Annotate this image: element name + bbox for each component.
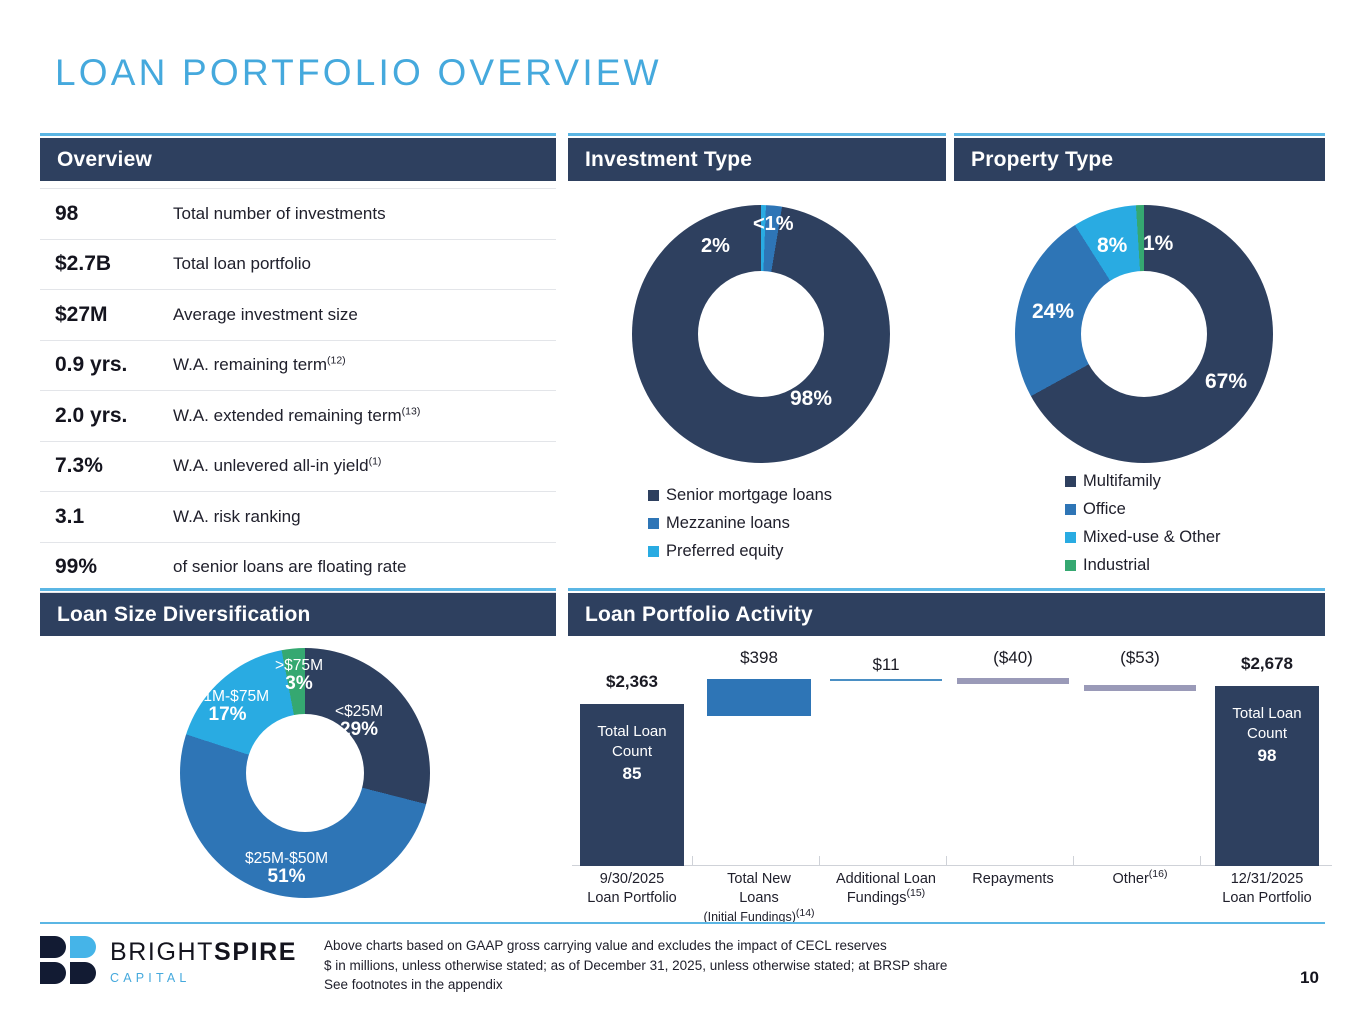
legend-label: Office (1083, 500, 1126, 519)
bar-value-label: ($40) (953, 648, 1073, 668)
overview-label: W.A. risk ranking (173, 507, 301, 527)
table-row: 2.0 yrs. W.A. extended remaining term(13… (40, 391, 556, 442)
section-header-loan-size-label: Loan Size Diversification (40, 603, 311, 627)
bar-value-label: $2,363 (572, 672, 692, 692)
overview-value: 98 (40, 202, 173, 226)
page-number: 10 (1300, 968, 1319, 988)
list-item: Preferred equity (648, 542, 832, 561)
legend-swatch-icon (1065, 532, 1076, 543)
disclaimer-line-2: $ in millions, unless otherwise stated; … (324, 956, 947, 976)
section-header-activity-label: Loan Portfolio Activity (568, 603, 813, 627)
overview-label: Average investment size (173, 305, 358, 325)
legend-label: Senior mortgage loans (666, 486, 832, 505)
legend-swatch-icon (1065, 476, 1076, 487)
waterfall-step: $398 Total New Loans (Initial Fundings)(… (699, 648, 819, 866)
donut-hole (698, 271, 824, 397)
investment-type-chart: <1% 2% 98% (632, 205, 890, 463)
waterfall-step: $2,678 Total Loan Count 98 12/31/2025 Lo… (1207, 648, 1327, 866)
property-label-industrial: 1% (1143, 233, 1173, 255)
brightspire-logo-icon (40, 936, 100, 986)
axis-label: Other(16) (1080, 870, 1200, 889)
table-row: 0.9 yrs. W.A. remaining term(12) (40, 341, 556, 392)
bar-value-label: $398 (699, 648, 819, 668)
accent-rule-overview (40, 133, 556, 136)
bar (707, 679, 811, 716)
investment-label-mezzanine: 2% (701, 236, 730, 257)
table-row: 3.1 W.A. risk ranking (40, 492, 556, 543)
overview-table: 98 Total number of investments $2.7B Tot… (40, 188, 556, 593)
table-row: $2.7B Total loan portfolio (40, 240, 556, 291)
overview-value: 7.3% (40, 454, 173, 478)
disclaimer-line-1: Above charts based on GAAP gross carryin… (324, 936, 947, 956)
legend-swatch-icon (1065, 560, 1076, 571)
legend-label: Multifamily (1083, 472, 1161, 491)
donut-hole (1081, 271, 1207, 397)
table-row: $27M Average investment size (40, 290, 556, 341)
overview-label: W.A. extended remaining term(13) (173, 406, 420, 426)
legend-swatch-icon (1065, 504, 1076, 515)
waterfall-step: $11 Additional Loan Fundings(15) (826, 648, 946, 866)
investment-type-donut (632, 205, 890, 463)
property-label-multifamily: 67% (1205, 371, 1247, 393)
table-row: 99% of senior loans are floating rate (40, 543, 556, 594)
overview-label: of senior loans are floating rate (173, 557, 406, 577)
footer-divider (40, 922, 1325, 924)
bar-value-label: ($53) (1080, 648, 1200, 668)
overview-value: 2.0 yrs. (40, 404, 173, 428)
table-row: 7.3% W.A. unlevered all-in yield(1) (40, 442, 556, 493)
bar (830, 679, 942, 681)
logo-block-top-left (40, 936, 66, 958)
axis-tick (692, 856, 693, 866)
loansize-label-over75: >$75M 3% (275, 658, 323, 694)
axis-label: Repayments (953, 870, 1073, 889)
legend-swatch-icon (648, 546, 659, 557)
section-header-property-type-label: Property Type (954, 148, 1113, 172)
property-label-mixeduse: 8% (1097, 235, 1127, 257)
investment-type-legend: Senior mortgage loans Mezzanine loans Pr… (648, 486, 832, 570)
section-header-overview: Overview (40, 138, 556, 181)
axis-label: Additional Loan Fundings(15) (826, 870, 946, 908)
overview-label: Total loan portfolio (173, 254, 311, 274)
list-item: Mixed-use & Other (1065, 528, 1221, 547)
bar-value-label: $2,678 (1207, 654, 1327, 674)
section-header-activity: Loan Portfolio Activity (568, 593, 1325, 636)
logo-block-bottom-left (40, 962, 66, 984)
brand-wordmark: BRIGHTSPIRE CAPITAL (110, 940, 297, 985)
waterfall-step: ($53) Other(16) (1080, 648, 1200, 866)
slide-root: LOAN PORTFOLIO OVERVIEW Overview Investm… (0, 0, 1365, 1024)
page-title: LOAN PORTFOLIO OVERVIEW (55, 52, 662, 94)
overview-value: $2.7B (40, 252, 173, 276)
overview-value: 99% (40, 555, 173, 579)
bar-inner-label: Total Loan Count 98 (1207, 704, 1327, 767)
overview-value: 0.9 yrs. (40, 353, 173, 377)
overview-label: W.A. remaining term(12) (173, 355, 346, 375)
legend-swatch-icon (648, 490, 659, 501)
disclaimer-line-3: See footnotes in the appendix (324, 975, 947, 995)
section-header-overview-label: Overview (40, 148, 152, 172)
loan-size-chart: <$25M 29% $25M-$50M 51% $51M-$75M 17% >$… (180, 648, 430, 898)
logo-block-top-right (70, 936, 96, 958)
overview-value: 3.1 (40, 505, 173, 529)
loansize-label-51to75: $51M-$75M 17% (186, 689, 269, 725)
investment-label-preferred: <1% (753, 214, 794, 235)
axis-tick (1200, 856, 1201, 866)
axis-tick (819, 856, 820, 866)
list-item: Multifamily (1065, 472, 1221, 491)
section-header-investment-type: Investment Type (568, 138, 946, 181)
legend-label: Mezzanine loans (666, 514, 790, 533)
brand-tagline: CAPITAL (110, 971, 297, 985)
axis-label: Total New Loans (Initial Fundings)(14) (699, 870, 819, 927)
table-row: 98 Total number of investments (40, 188, 556, 240)
overview-value: $27M (40, 303, 173, 327)
section-header-loan-size: Loan Size Diversification (40, 593, 556, 636)
list-item: Industrial (1065, 556, 1221, 575)
axis-tick (946, 856, 947, 866)
accent-rule-property (954, 133, 1325, 136)
accent-rule-activity (568, 588, 1325, 591)
loansize-label-under25: <$25M 29% (335, 704, 383, 740)
waterfall-step: ($40) Repayments (953, 648, 1073, 866)
loan-portfolio-activity-chart: $2,363 Total Loan Count 85 9/30/2025 Loa… (572, 648, 1332, 916)
accent-rule-investment (568, 133, 946, 136)
list-item: Office (1065, 500, 1221, 519)
section-header-investment-type-label: Investment Type (568, 148, 752, 172)
legend-label: Preferred equity (666, 542, 783, 561)
property-type-chart: 8% 1% 24% 67% (1015, 205, 1273, 463)
list-item: Senior mortgage loans (648, 486, 832, 505)
brand-name: BRIGHTSPIRE (110, 940, 297, 965)
property-label-office: 24% (1032, 301, 1074, 323)
bar (957, 678, 1069, 684)
investment-label-senior: 98% (790, 388, 832, 410)
section-header-property-type: Property Type (954, 138, 1325, 181)
list-item: Mezzanine loans (648, 514, 832, 533)
bar-value-label: $11 (826, 655, 946, 675)
overview-label: Total number of investments (173, 204, 386, 224)
legend-swatch-icon (648, 518, 659, 529)
waterfall-step: $2,363 Total Loan Count 85 9/30/2025 Loa… (572, 648, 692, 866)
legend-label: Industrial (1083, 556, 1150, 575)
logo-block-bottom-right (70, 962, 96, 984)
legend-label: Mixed-use & Other (1083, 528, 1221, 547)
bar-inner-label: Total Loan Count 85 (572, 722, 692, 785)
overview-label: W.A. unlevered all-in yield(1) (173, 456, 381, 476)
bar (1084, 685, 1196, 691)
disclaimer-text: Above charts based on GAAP gross carryin… (324, 936, 947, 995)
axis-tick (1073, 856, 1074, 866)
axis-label: 12/31/2025 Loan Portfolio (1207, 870, 1327, 908)
axis-label: 9/30/2025 Loan Portfolio (572, 870, 692, 908)
loansize-label-25to50: $25M-$50M 51% (245, 851, 328, 887)
property-type-legend: Multifamily Office Mixed-use & Other Ind… (1065, 472, 1221, 584)
